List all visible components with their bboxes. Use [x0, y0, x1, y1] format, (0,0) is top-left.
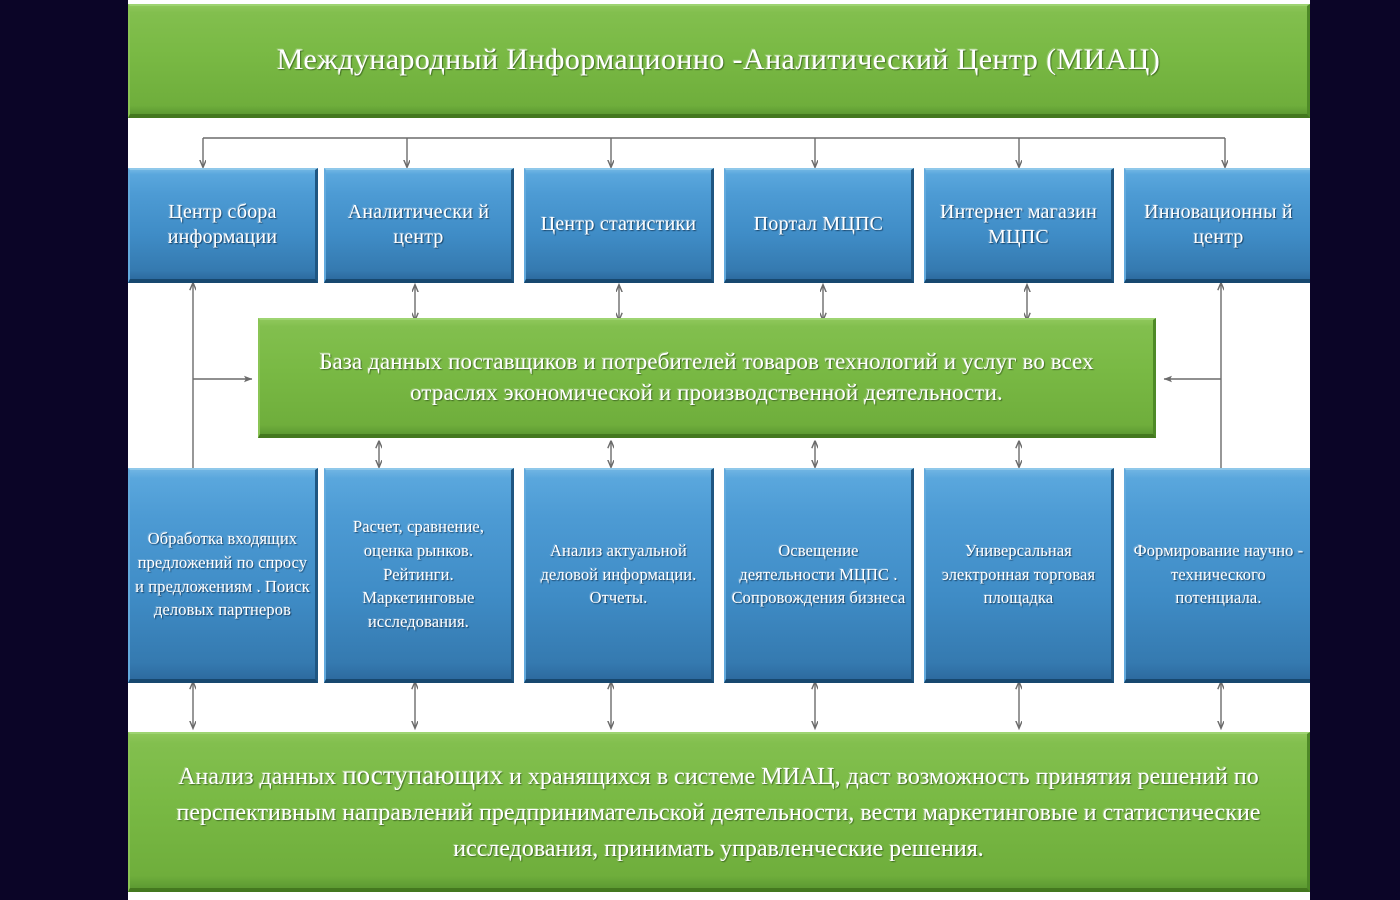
node-mcps-internet-shop[interactable]: Интернет магазин МЦПС: [924, 168, 1114, 283]
node-center-for-data-collection[interactable]: Центр сбора информации: [128, 168, 318, 283]
node-label: Расчет, сравнение, оценка рынков. Рейтин…: [326, 515, 511, 635]
node-label: Освещение деятельности МЦПС . Сопровожде…: [726, 539, 911, 611]
node-incoming-offers-processing[interactable]: Обработка входящих предложений по спросу…: [128, 468, 318, 683]
node-label: Центр сбора информации: [130, 200, 315, 249]
node-label: Формирование научно - технического потен…: [1126, 539, 1310, 611]
database-panel[interactable]: База данных поставщиков и потребителей т…: [258, 318, 1156, 438]
conclusion-panel: Анализ данных поступающих и хранящихся в…: [128, 732, 1310, 892]
node-label: Обработка входящих предложений по спросу…: [130, 527, 315, 623]
node-analytical-center[interactable]: Аналитически й центр: [324, 168, 514, 283]
conclusion-text-emphasis: поступающих: [342, 760, 503, 790]
database-panel-text: База данных поставщиков и потребителей т…: [278, 346, 1135, 408]
diagram-content-area: Международный Информационно -Аналитическ…: [128, 0, 1310, 900]
conclusion-text-part1: Анализ данных: [178, 764, 342, 790]
node-label: Анализ актуальной деловой информации. От…: [526, 539, 711, 611]
node-label: Аналитически й центр: [326, 200, 511, 249]
node-label: Интернет магазин МЦПС: [926, 200, 1111, 249]
node-market-calculation-rating[interactable]: Расчет, сравнение, оценка рынков. Рейтин…: [324, 468, 514, 683]
diagram-title-text: Международный Информационно -Аналитическ…: [277, 40, 1160, 81]
node-mcps-coverage-business-support[interactable]: Освещение деятельности МЦПС . Сопровожде…: [724, 468, 914, 683]
top-to-database-links: [415, 285, 1027, 320]
title-distribution-bus: [203, 138, 1225, 167]
node-innovation-center[interactable]: Инновационны й центр: [1124, 168, 1310, 283]
node-business-info-analysis[interactable]: Анализ актуальной деловой информации. От…: [524, 468, 714, 683]
slide-canvas: Международный Информационно -Аналитическ…: [0, 0, 1400, 900]
node-universal-e-trading-platform[interactable]: Универсальная электронная торговая площа…: [924, 468, 1114, 683]
conclusion-text: Анализ данных поступающих и хранящихся в…: [152, 755, 1285, 868]
node-label: Инновационны й центр: [1126, 200, 1310, 249]
database-to-bottom-links: [379, 441, 1019, 467]
node-mcps-portal[interactable]: Портал МЦПС: [724, 168, 914, 283]
node-label: Центр статистики: [526, 212, 711, 236]
node-label: Универсальная электронная торговая площа…: [926, 539, 1111, 611]
node-statistics-center[interactable]: Центр статистики: [524, 168, 714, 283]
diagram-title-panel: Международный Информационно -Аналитическ…: [128, 4, 1310, 118]
node-label: Портал МЦПС: [726, 212, 911, 236]
node-sci-tech-potential-building[interactable]: Формирование научно - технического потен…: [1124, 468, 1310, 683]
bottom-to-footer-links: [193, 682, 1221, 728]
